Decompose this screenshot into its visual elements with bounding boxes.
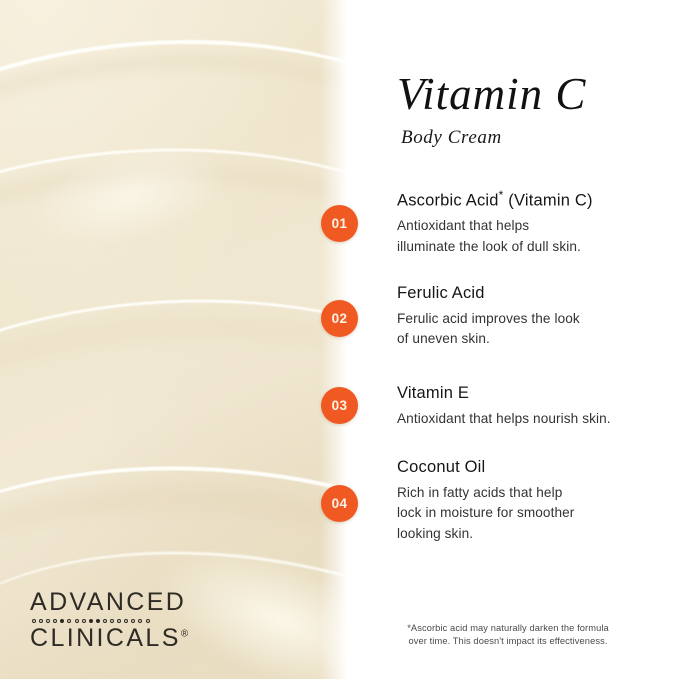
brand-dot-13 (117, 619, 121, 623)
ingredient-description-03: Antioxidant that helps nourish skin. (397, 409, 669, 430)
footnote-disclaimer: *Ascorbic acid may naturally darken the … (383, 622, 633, 648)
ingredient-name-03: Vitamin E (397, 384, 669, 404)
brand-logo-line-2: CLINICALS® (30, 626, 188, 651)
brand-dot-16 (138, 619, 142, 623)
brand-logo-line-1: ADVANCED (30, 590, 188, 615)
title-block: Vitamin C Body Cream (397, 72, 586, 149)
brand-dot-1 (32, 619, 36, 623)
brand-dot-6 (67, 619, 71, 623)
ingredient-item-04: Coconut OilRich in fatty acids that help… (397, 458, 669, 544)
brand-dot-11 (103, 619, 107, 623)
brand-dot-3 (46, 619, 50, 623)
ingredient-item-03: Vitamin EAntioxidant that helps nourish … (397, 384, 669, 429)
ingredient-description-02: Ferulic acid improves the look of uneven… (397, 309, 669, 350)
ingredient-description-04: Rich in fatty acids that help lock in mo… (397, 483, 669, 545)
product-title: Vitamin C (397, 72, 586, 117)
ingredient-name-text: Ferulic Acid (397, 284, 485, 302)
ingredient-item-02: Ferulic AcidFerulic acid improves the lo… (397, 284, 669, 350)
brand-dot-14 (124, 619, 128, 623)
product-subtitle: Body Cream (401, 127, 586, 149)
brand-logo-line-2-text: CLINICALS (30, 624, 181, 652)
brand-dot-7 (75, 619, 79, 623)
ingredient-badge-04: 04 (321, 485, 358, 522)
brand-dot-15 (131, 619, 135, 623)
ingredient-name-text: Vitamin E (397, 384, 469, 402)
ingredient-item-01: Ascorbic Acid* (Vitamin C)Antioxidant th… (397, 188, 669, 257)
ingredient-badge-02: 02 (321, 300, 358, 337)
ingredient-name-02: Ferulic Acid (397, 284, 669, 304)
ingredient-name-04: Coconut Oil (397, 458, 669, 478)
brand-dot-5 (60, 619, 64, 623)
product-infographic: ADVANCED CLINICALS® Vitamin C Body Cream… (0, 0, 679, 679)
registered-trademark-icon: ® (181, 629, 188, 640)
brand-logo: ADVANCED CLINICALS® (30, 590, 188, 651)
brand-dot-4 (53, 619, 57, 623)
ingredient-name-text: Coconut Oil (397, 458, 485, 476)
brand-dot-9 (89, 619, 93, 623)
ingredient-badge-03: 03 (321, 387, 358, 424)
ingredient-description-01: Antioxidant that helps illuminate the lo… (397, 216, 669, 257)
ingredient-name-text: Ascorbic Acid (397, 192, 499, 210)
cream-base-gradient (0, 0, 346, 679)
brand-dot-17 (146, 619, 150, 623)
brand-dot-10 (96, 619, 100, 623)
content-panel: Vitamin C Body Cream Ascorbic Acid* (Vit… (346, 0, 679, 679)
brand-dot-8 (82, 619, 86, 623)
ingredient-badge-01: 01 (321, 205, 358, 242)
brand-dot-2 (39, 619, 43, 623)
cream-texture-photo: ADVANCED CLINICALS® (0, 0, 346, 679)
photo-edge-fade (320, 0, 346, 679)
brand-dot-12 (110, 619, 114, 623)
brand-logo-dot-separator (32, 619, 188, 623)
ingredient-name-01: Ascorbic Acid* (Vitamin C) (397, 188, 669, 211)
ingredient-name-suffix: (Vitamin C) (504, 192, 593, 210)
